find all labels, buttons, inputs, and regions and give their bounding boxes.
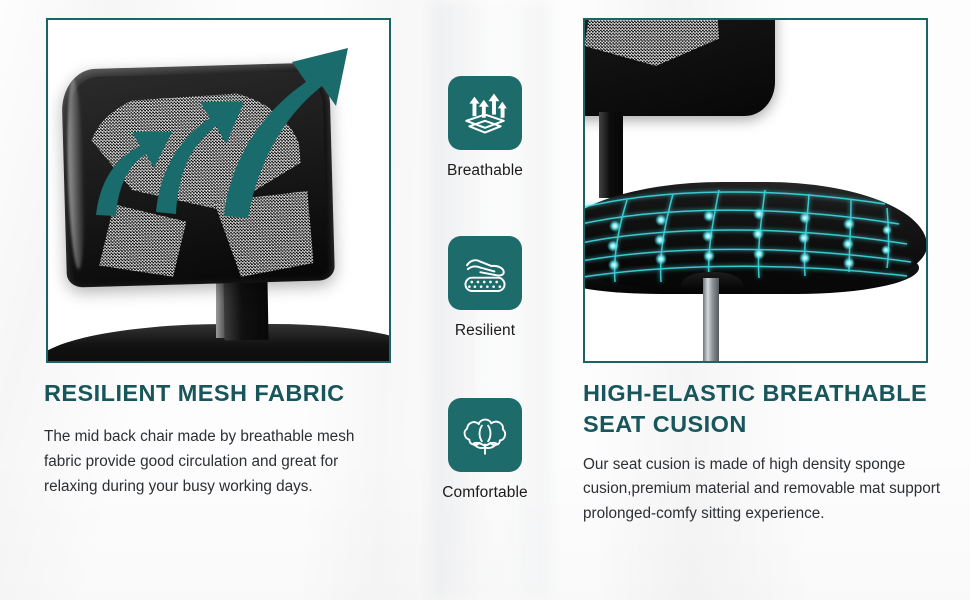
cotton-boll-icon bbox=[460, 410, 510, 460]
comfortable-caption: Comfortable bbox=[442, 484, 528, 502]
resilient-caption: Resilient bbox=[455, 322, 515, 340]
feature-item-comfortable[interactable]: Comfortable bbox=[442, 398, 528, 502]
resilient-icon-tile[interactable] bbox=[448, 236, 522, 310]
left-text-column: RESILIENT MESH FABRIC The mid back chair… bbox=[44, 378, 394, 500]
breathable-icon-tile[interactable] bbox=[448, 76, 522, 150]
comfortable-icon-tile[interactable] bbox=[448, 398, 522, 472]
infographic-stage: Breathable bbox=[0, 0, 970, 600]
breathable-layers-arrows-icon bbox=[460, 88, 510, 138]
right-chair-back-shell bbox=[585, 20, 775, 116]
feature-icon-rail: Breathable bbox=[410, 60, 560, 580]
elasticity-grid-overlay bbox=[585, 170, 926, 300]
right-mesh-panel bbox=[585, 20, 719, 66]
feature-item-resilient[interactable]: Resilient bbox=[448, 236, 522, 340]
feature-item-breathable[interactable]: Breathable bbox=[447, 76, 523, 180]
mesh-fabric-photo-frame bbox=[46, 18, 391, 363]
seat-cusion-photo-frame bbox=[583, 18, 928, 363]
left-feature-body: The mid back chair made by breathable me… bbox=[44, 425, 394, 499]
right-text-column: HIGH-ELASTIC BREATHABLE SEAT CUSION Our … bbox=[583, 378, 955, 527]
seat-cusion-photo bbox=[585, 20, 926, 361]
left-feature-title: RESILIENT MESH FABRIC bbox=[44, 378, 394, 409]
gas-lift-cylinder bbox=[703, 278, 719, 361]
breathable-caption: Breathable bbox=[447, 162, 523, 180]
airflow-arrows-overlay bbox=[48, 20, 389, 361]
right-feature-body: Our seat cusion is made of high density … bbox=[583, 453, 955, 527]
airflow-arrow-3 bbox=[224, 48, 348, 218]
right-feature-title: HIGH-ELASTIC BREATHABLE SEAT CUSION bbox=[583, 378, 955, 441]
hand-pressing-mattress-icon bbox=[460, 248, 510, 298]
mesh-fabric-photo bbox=[48, 20, 389, 361]
